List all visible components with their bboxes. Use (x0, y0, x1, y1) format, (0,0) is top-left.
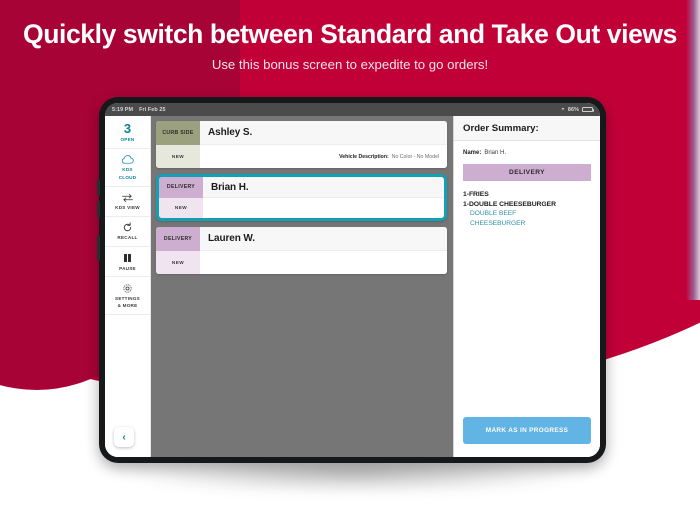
summary-name-row: Name: Brian H. (463, 150, 591, 156)
order-card-lauren[interactable]: DELIVERY NEW Lauren W. (156, 227, 447, 274)
tablet-device-frame: 5:19 PM Fri Feb 25 ◓ 86% 3 OPEN (99, 97, 606, 463)
pause-icon (107, 253, 148, 264)
order-type-badge: CURB SIDE (156, 121, 200, 145)
wifi-icon: ◓ (561, 107, 565, 113)
order-tag-column: DELIVERY NEW (159, 177, 203, 218)
status-bar-left: 5:19 PM Fri Feb 25 (112, 107, 166, 113)
battery-percent-label: 86% (568, 107, 579, 113)
rail-label-pause: PAUSE (107, 266, 148, 272)
kds-app: 3 OPEN KDS CLOUD (105, 116, 600, 457)
vehicle-description-value: No Color - No Model (392, 154, 439, 160)
summary-item-modifier: CHEESEBURGER (463, 219, 591, 228)
rail-item-kds-cloud[interactable]: KDS CLOUD (105, 149, 150, 187)
rail-item-kds-view[interactable]: KDS VIEW (105, 187, 150, 217)
order-card-body: Lauren W. (200, 227, 447, 274)
volume-up-button[interactable] (97, 179, 100, 196)
order-tag-column: DELIVERY NEW (156, 227, 200, 274)
order-name-row: Lauren W. (200, 227, 447, 251)
order-meta-row (200, 251, 447, 274)
mark-as-in-progress-button[interactable]: MARK AS IN PROGRESS (463, 417, 591, 444)
summary-name-value: Brian H. (484, 150, 506, 156)
summary-name-label: Name: (463, 150, 481, 156)
swap-arrows-icon (107, 192, 148, 203)
order-card-body: Ashley S. Vehicle Description: No Color … (200, 121, 447, 168)
order-meta-row: Vehicle Description: No Color - No Model (200, 145, 447, 168)
rail-label-settings-1: SETTINGS (107, 296, 148, 302)
summary-item-line: 1-FRIES (463, 190, 591, 200)
summary-item-modifier: DOUBLE BEEF (463, 209, 591, 218)
order-customer-name: Lauren W. (208, 233, 255, 244)
order-summary-title: Order Summary: (463, 123, 591, 134)
summary-order-type-badge: DELIVERY (463, 164, 591, 181)
order-type-badge: DELIVERY (159, 177, 203, 198)
open-order-label: OPEN (107, 137, 148, 143)
rail-item-recall[interactable]: RECALL (105, 217, 150, 247)
rail-label-settings-2: & MORE (107, 303, 148, 309)
order-name-row: Ashley S. (200, 121, 447, 145)
order-name-row: Brian H. (203, 177, 444, 198)
gear-icon (107, 283, 148, 294)
cloud-icon (107, 154, 148, 165)
order-state-badge: NEW (156, 251, 200, 275)
order-list: CURB SIDE NEW Ashley S. Vehicle Descript… (151, 116, 453, 457)
open-order-count: 3 (107, 122, 148, 136)
status-bar-time: 5:19 PM (112, 107, 133, 113)
order-card-ashley[interactable]: CURB SIDE NEW Ashley S. Vehicle Descript… (156, 121, 447, 168)
order-meta-row (203, 198, 444, 218)
order-customer-name: Ashley S. (208, 127, 252, 138)
back-button[interactable]: ‹ (114, 427, 134, 447)
rail-label-kds-cloud-1: KDS (107, 167, 148, 173)
rail-label-recall: RECALL (107, 235, 148, 241)
left-nav-rail: 3 OPEN KDS CLOUD (105, 116, 151, 457)
ios-status-bar: 5:19 PM Fri Feb 25 ◓ 86% (105, 103, 600, 116)
order-summary-panel: Order Summary: Name: Brian H. DELIVERY 1… (453, 116, 600, 457)
order-state-badge: NEW (159, 198, 203, 219)
order-summary-body: Name: Brian H. DELIVERY 1-FRIES 1-DOUBLE… (454, 141, 600, 417)
tablet-screen: 5:19 PM Fri Feb 25 ◓ 86% 3 OPEN (105, 103, 600, 457)
rail-item-pause[interactable]: PAUSE (105, 247, 150, 277)
summary-item-line: 1-DOUBLE CHEESEBURGER (463, 200, 591, 210)
rail-item-settings[interactable]: SETTINGS & MORE (105, 277, 150, 315)
power-button[interactable] (97, 235, 100, 261)
promo-screenshot: Quickly switch between Standard and Take… (0, 0, 700, 525)
battery-icon (582, 107, 593, 112)
order-summary-footer: MARK AS IN PROGRESS (454, 417, 600, 457)
order-card-body: Brian H. (203, 177, 444, 218)
order-customer-name: Brian H. (211, 182, 249, 193)
order-tag-column: CURB SIDE NEW (156, 121, 200, 168)
status-bar-date: Fri Feb 25 (139, 107, 165, 113)
rail-label-kds-view: KDS VIEW (107, 205, 148, 211)
order-summary-header: Order Summary: (454, 116, 600, 141)
status-bar-right: ◓ 86% (561, 107, 593, 113)
recall-refresh-icon (107, 222, 148, 233)
vehicle-description-label: Vehicle Description: (339, 154, 389, 160)
rail-label-kds-cloud-2: CLOUD (107, 175, 148, 181)
chevron-left-icon: ‹ (122, 432, 125, 443)
volume-down-button[interactable] (97, 201, 100, 218)
order-state-badge: NEW (156, 145, 200, 169)
rail-item-open-count[interactable]: 3 OPEN (105, 116, 150, 149)
background-edge-gradient (686, 0, 700, 300)
order-type-badge: DELIVERY (156, 227, 200, 251)
order-card-brian[interactable]: DELIVERY NEW Brian H. (156, 174, 447, 221)
